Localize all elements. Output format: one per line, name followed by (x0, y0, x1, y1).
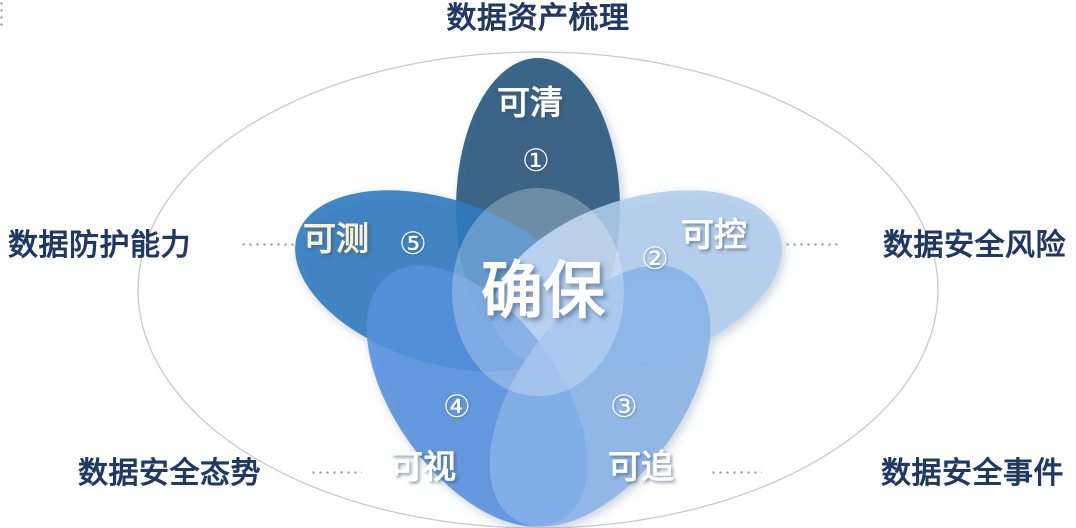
connector-left (240, 243, 296, 246)
petal-3-number: ③ (610, 392, 638, 423)
petal-1-label: 可清 (497, 86, 563, 119)
petal-5-number: ⑤ (399, 229, 427, 260)
petal-4-number: ④ (443, 392, 471, 423)
callout-top: 数据资产梳理 (0, 4, 1076, 34)
callout-bottom-left: 数据安全态势 (78, 459, 261, 489)
petal-2-number: ② (641, 244, 669, 275)
petal-3-label: 可追 (608, 450, 674, 483)
callout-left: 数据防护能力 (8, 231, 191, 261)
diagram-canvas: 可清 ① 可控 ② 可追 ③ 可视 ④ 可测 ⑤ 确保 数据资产梳理 数据防护能… (0, 0, 1076, 528)
callout-bottom-right: 数据安全事件 (881, 459, 1064, 489)
connector-bottom-right (710, 471, 762, 474)
petal-5-label: 可测 (303, 222, 369, 255)
petal-2-label: 可控 (681, 218, 747, 251)
center-label: 确保 (481, 261, 605, 323)
petal-4-label: 可视 (390, 450, 456, 483)
connector-bottom-left (310, 471, 362, 474)
petal-1-number: ① (522, 146, 550, 177)
connector-right (784, 243, 840, 246)
callout-right: 数据安全风险 (883, 231, 1066, 261)
